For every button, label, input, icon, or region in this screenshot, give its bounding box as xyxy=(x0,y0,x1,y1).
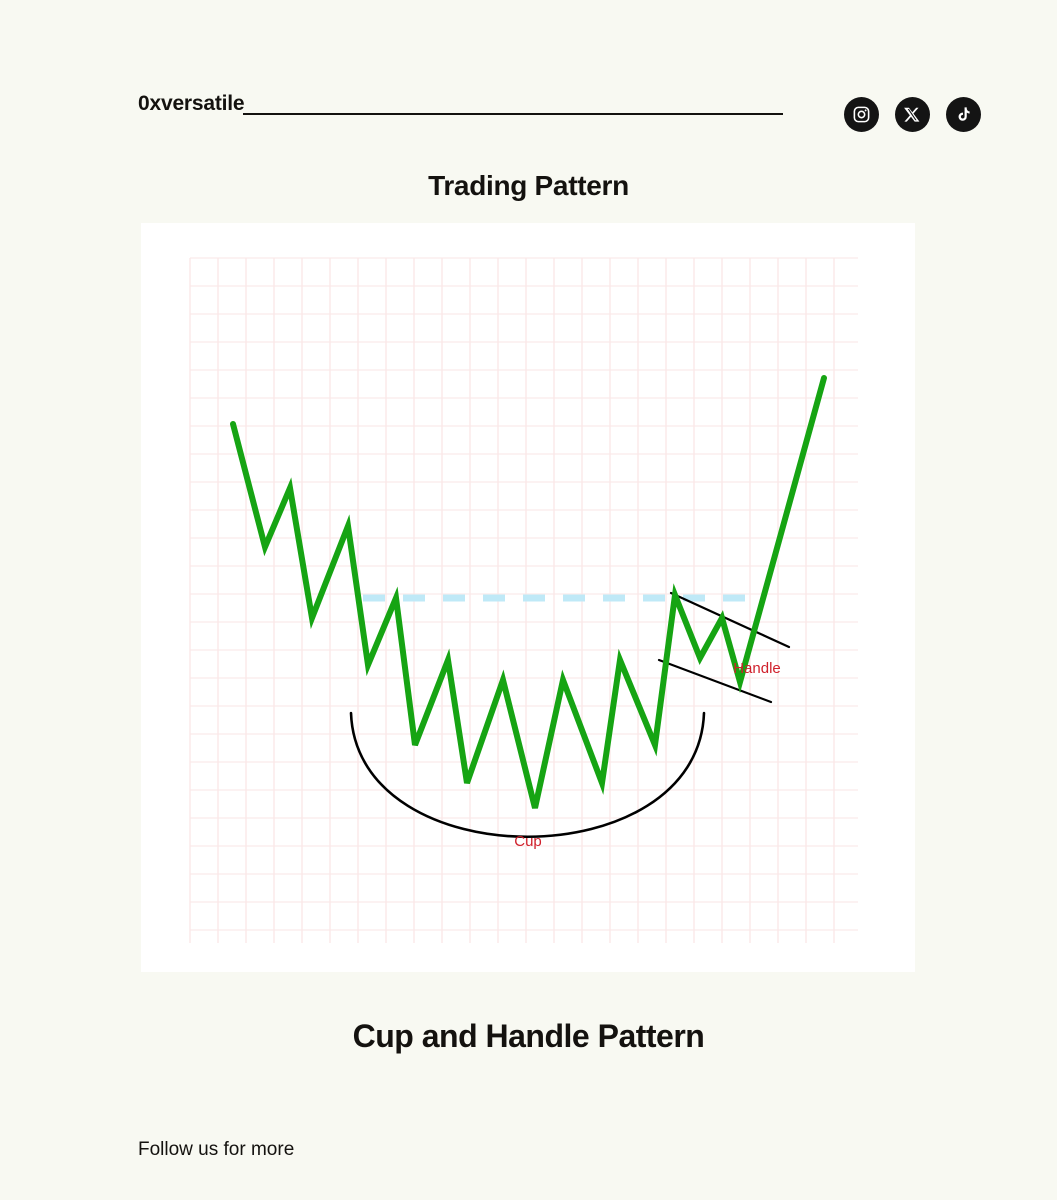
header-divider xyxy=(243,113,783,115)
annotation-cup: Cup xyxy=(514,833,542,850)
page-title: Trading Pattern xyxy=(0,170,1057,202)
social-links xyxy=(844,97,981,132)
instagram-icon[interactable] xyxy=(844,97,879,132)
price-line xyxy=(233,378,824,808)
annotation-handle: Handle xyxy=(733,660,781,677)
x-twitter-icon[interactable] xyxy=(895,97,930,132)
brand-logo: 0xversatile xyxy=(138,92,244,116)
cup-and-handle-chart: CupHandle xyxy=(141,223,915,972)
chart-panel: CupHandle xyxy=(141,223,915,972)
pattern-caption: Cup and Handle Pattern xyxy=(0,1018,1057,1055)
follow-note: Follow us for more xyxy=(138,1139,294,1161)
tiktok-icon[interactable] xyxy=(946,97,981,132)
